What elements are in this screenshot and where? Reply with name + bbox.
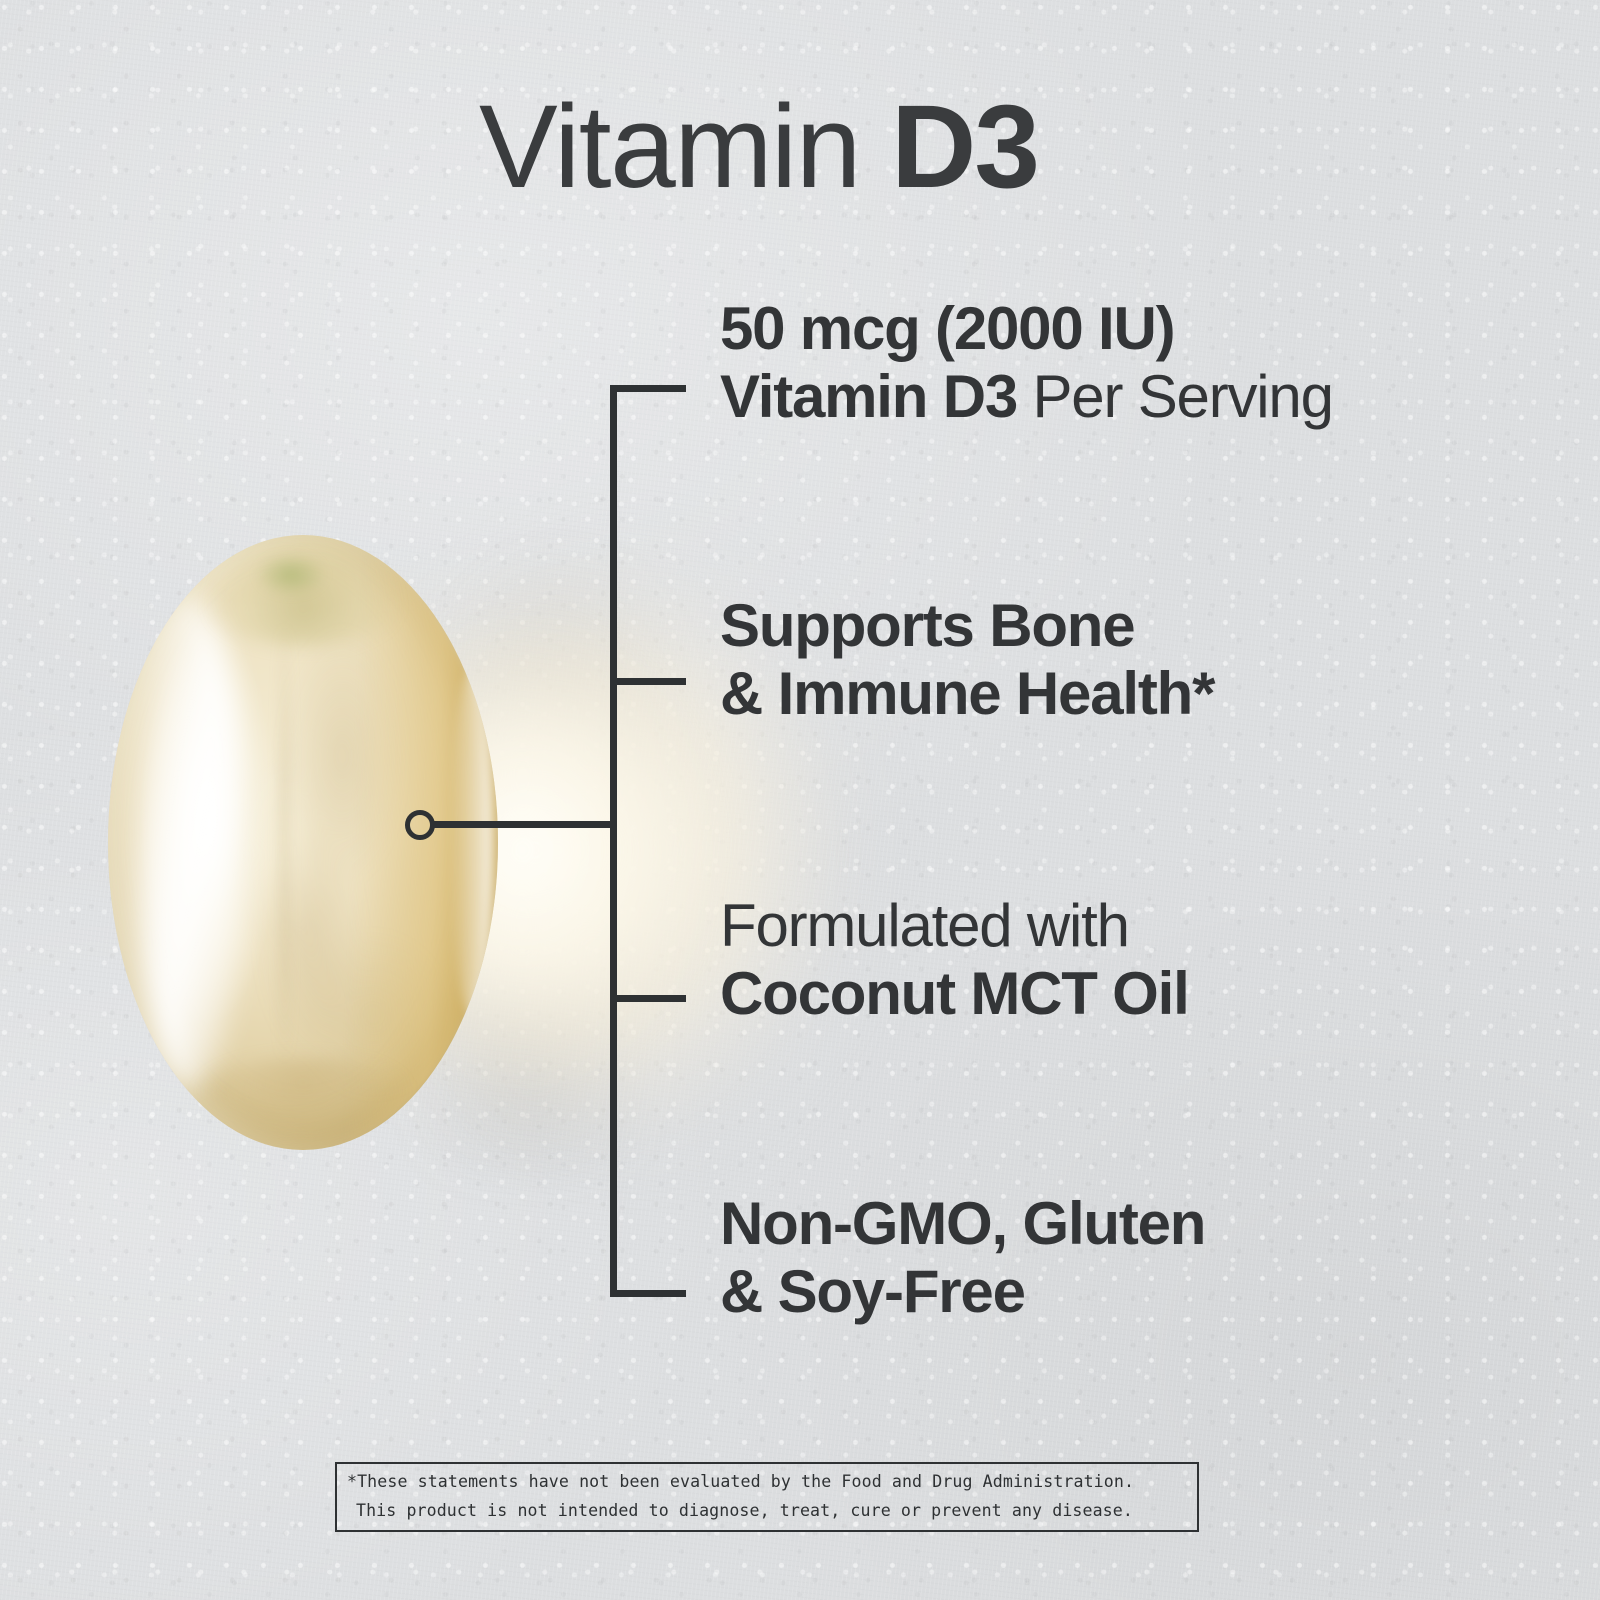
callout-free-from-line2: & Soy-Free [720, 1258, 1580, 1326]
callout-lead-line [434, 821, 616, 828]
callout-benefits-text2: & Immune Health* [720, 660, 1214, 727]
callout-tick-2 [610, 678, 686, 685]
callout-tick-1 [610, 385, 686, 392]
fda-disclaimer-line2: This product is not intended to diagnose… [347, 1497, 1187, 1526]
fda-disclaimer-box: *These statements have not been evaluate… [335, 1462, 1199, 1532]
callout-formulation-line1: Formulated with [720, 892, 1580, 960]
callout-dosage-serving: Per Serving [1017, 363, 1333, 430]
callout-formulation-ingredient: Coconut MCT Oil [720, 960, 1189, 1027]
title-bold-part: D3 [891, 81, 1038, 213]
callout-formulation-line2: Coconut MCT Oil [720, 960, 1580, 1028]
title-regular-part: Vitamin [479, 81, 891, 213]
callout-formulation-prefix: Formulated with [720, 892, 1129, 959]
callout-dosage: 50 mcg (2000 IU) Vitamin D3 Per Serving [720, 295, 1580, 431]
callout-free-from-text1: Non-GMO, Gluten [720, 1190, 1205, 1257]
callout-dot-marker-icon [405, 810, 435, 840]
callout-formulation: Formulated with Coconut MCT Oil [720, 892, 1580, 1028]
callout-dosage-amount: 50 mcg (2000 IU) [720, 295, 1174, 362]
callout-dosage-line2: Vitamin D3 Per Serving [720, 363, 1580, 431]
callout-benefits-text1: Supports Bone [720, 592, 1134, 659]
callout-free-from-text2: & Soy-Free [720, 1258, 1025, 1325]
callout-dosage-nutrient: Vitamin D3 [720, 363, 1017, 430]
callout-dosage-line1: 50 mcg (2000 IU) [720, 295, 1580, 363]
softgel-capsule-image [108, 535, 498, 1150]
callout-tick-3 [610, 995, 686, 1002]
page-title: Vitamin D3 [479, 88, 1038, 206]
fda-disclaimer-line1: *These statements have not been evaluate… [347, 1468, 1187, 1497]
capsule-rim-highlight [451, 670, 494, 1014]
callout-free-from-line1: Non-GMO, Gluten [720, 1190, 1580, 1258]
callout-free-from: Non-GMO, Gluten & Soy-Free [720, 1190, 1580, 1326]
callout-tick-4 [610, 1290, 686, 1297]
callout-benefits-line2: & Immune Health* [720, 660, 1580, 728]
callout-spine-line [610, 385, 617, 1297]
callout-benefits-line1: Supports Bone [720, 592, 1580, 660]
product-infographic: Vitamin D3 50 mcg (2000 IU) Vitamin D3 P… [0, 0, 1600, 1600]
callout-benefits: Supports Bone & Immune Health* [720, 592, 1580, 728]
